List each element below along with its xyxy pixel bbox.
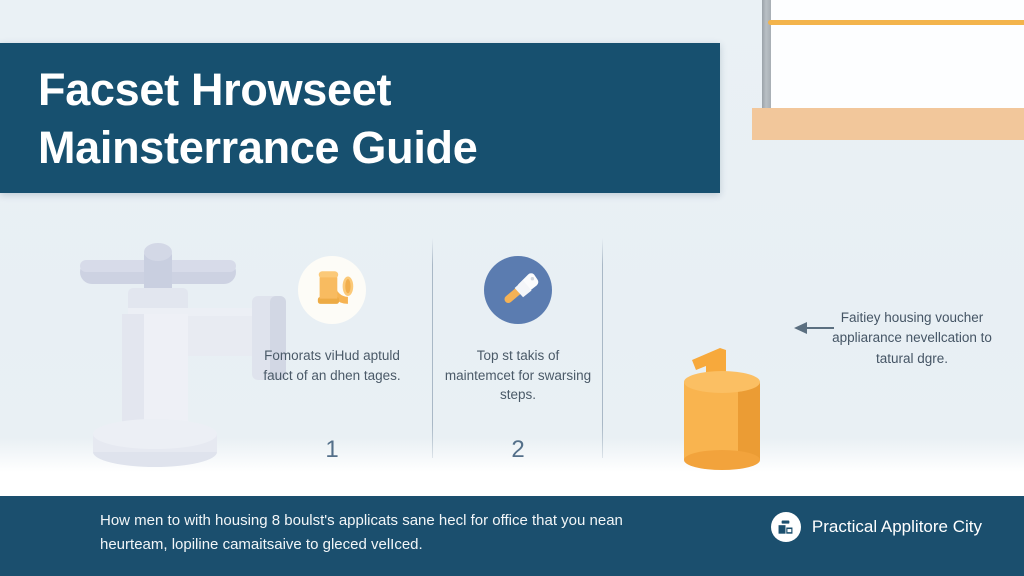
- orange-drum-illustration: [662, 340, 782, 470]
- brand-name: Practical Applitore City: [812, 517, 982, 537]
- appliance-badge-icon: [771, 512, 801, 542]
- step-2-text: Top st takis of maintemcet for swarsing …: [442, 346, 594, 405]
- page-title: Facset Hrowseet Mainsterrance Guide: [38, 61, 698, 176]
- step-2-number: 2: [442, 436, 594, 464]
- poster-canvas: Facset Hrowseet Mainsterrance Guide: [0, 0, 1024, 576]
- column-divider-1: [432, 238, 433, 458]
- column-divider-2: [602, 238, 603, 458]
- hammer-icon: [496, 266, 540, 315]
- step-1-text: Fomorats viHud aptuld fauct of an dhen t…: [256, 346, 408, 385]
- pipe-joint-icon: [309, 265, 355, 316]
- step-2-badge: [484, 256, 552, 324]
- panel-post-icon: [762, 0, 771, 114]
- panel-base-icon: [752, 108, 1024, 140]
- step-1-badge: [298, 256, 366, 324]
- header-band: Facset Hrowseet Mainsterrance Guide: [0, 43, 720, 193]
- panel-rail-icon: [768, 20, 1024, 25]
- step-column-2: Top st takis of maintemcet for swarsing …: [442, 256, 594, 405]
- step-column-1: Fomorats viHud aptuld fauct of an dhen t…: [256, 256, 408, 385]
- footer-band: How men to with housing 8 boulst's appli…: [0, 496, 1024, 576]
- brand-lockup: Practical Applitore City: [771, 512, 982, 542]
- step-1-number: 1: [256, 436, 408, 464]
- callout-text: Faitiey housing voucher appliarance neve…: [828, 308, 996, 369]
- footer-text: How men to with housing 8 boulst's appli…: [100, 509, 660, 556]
